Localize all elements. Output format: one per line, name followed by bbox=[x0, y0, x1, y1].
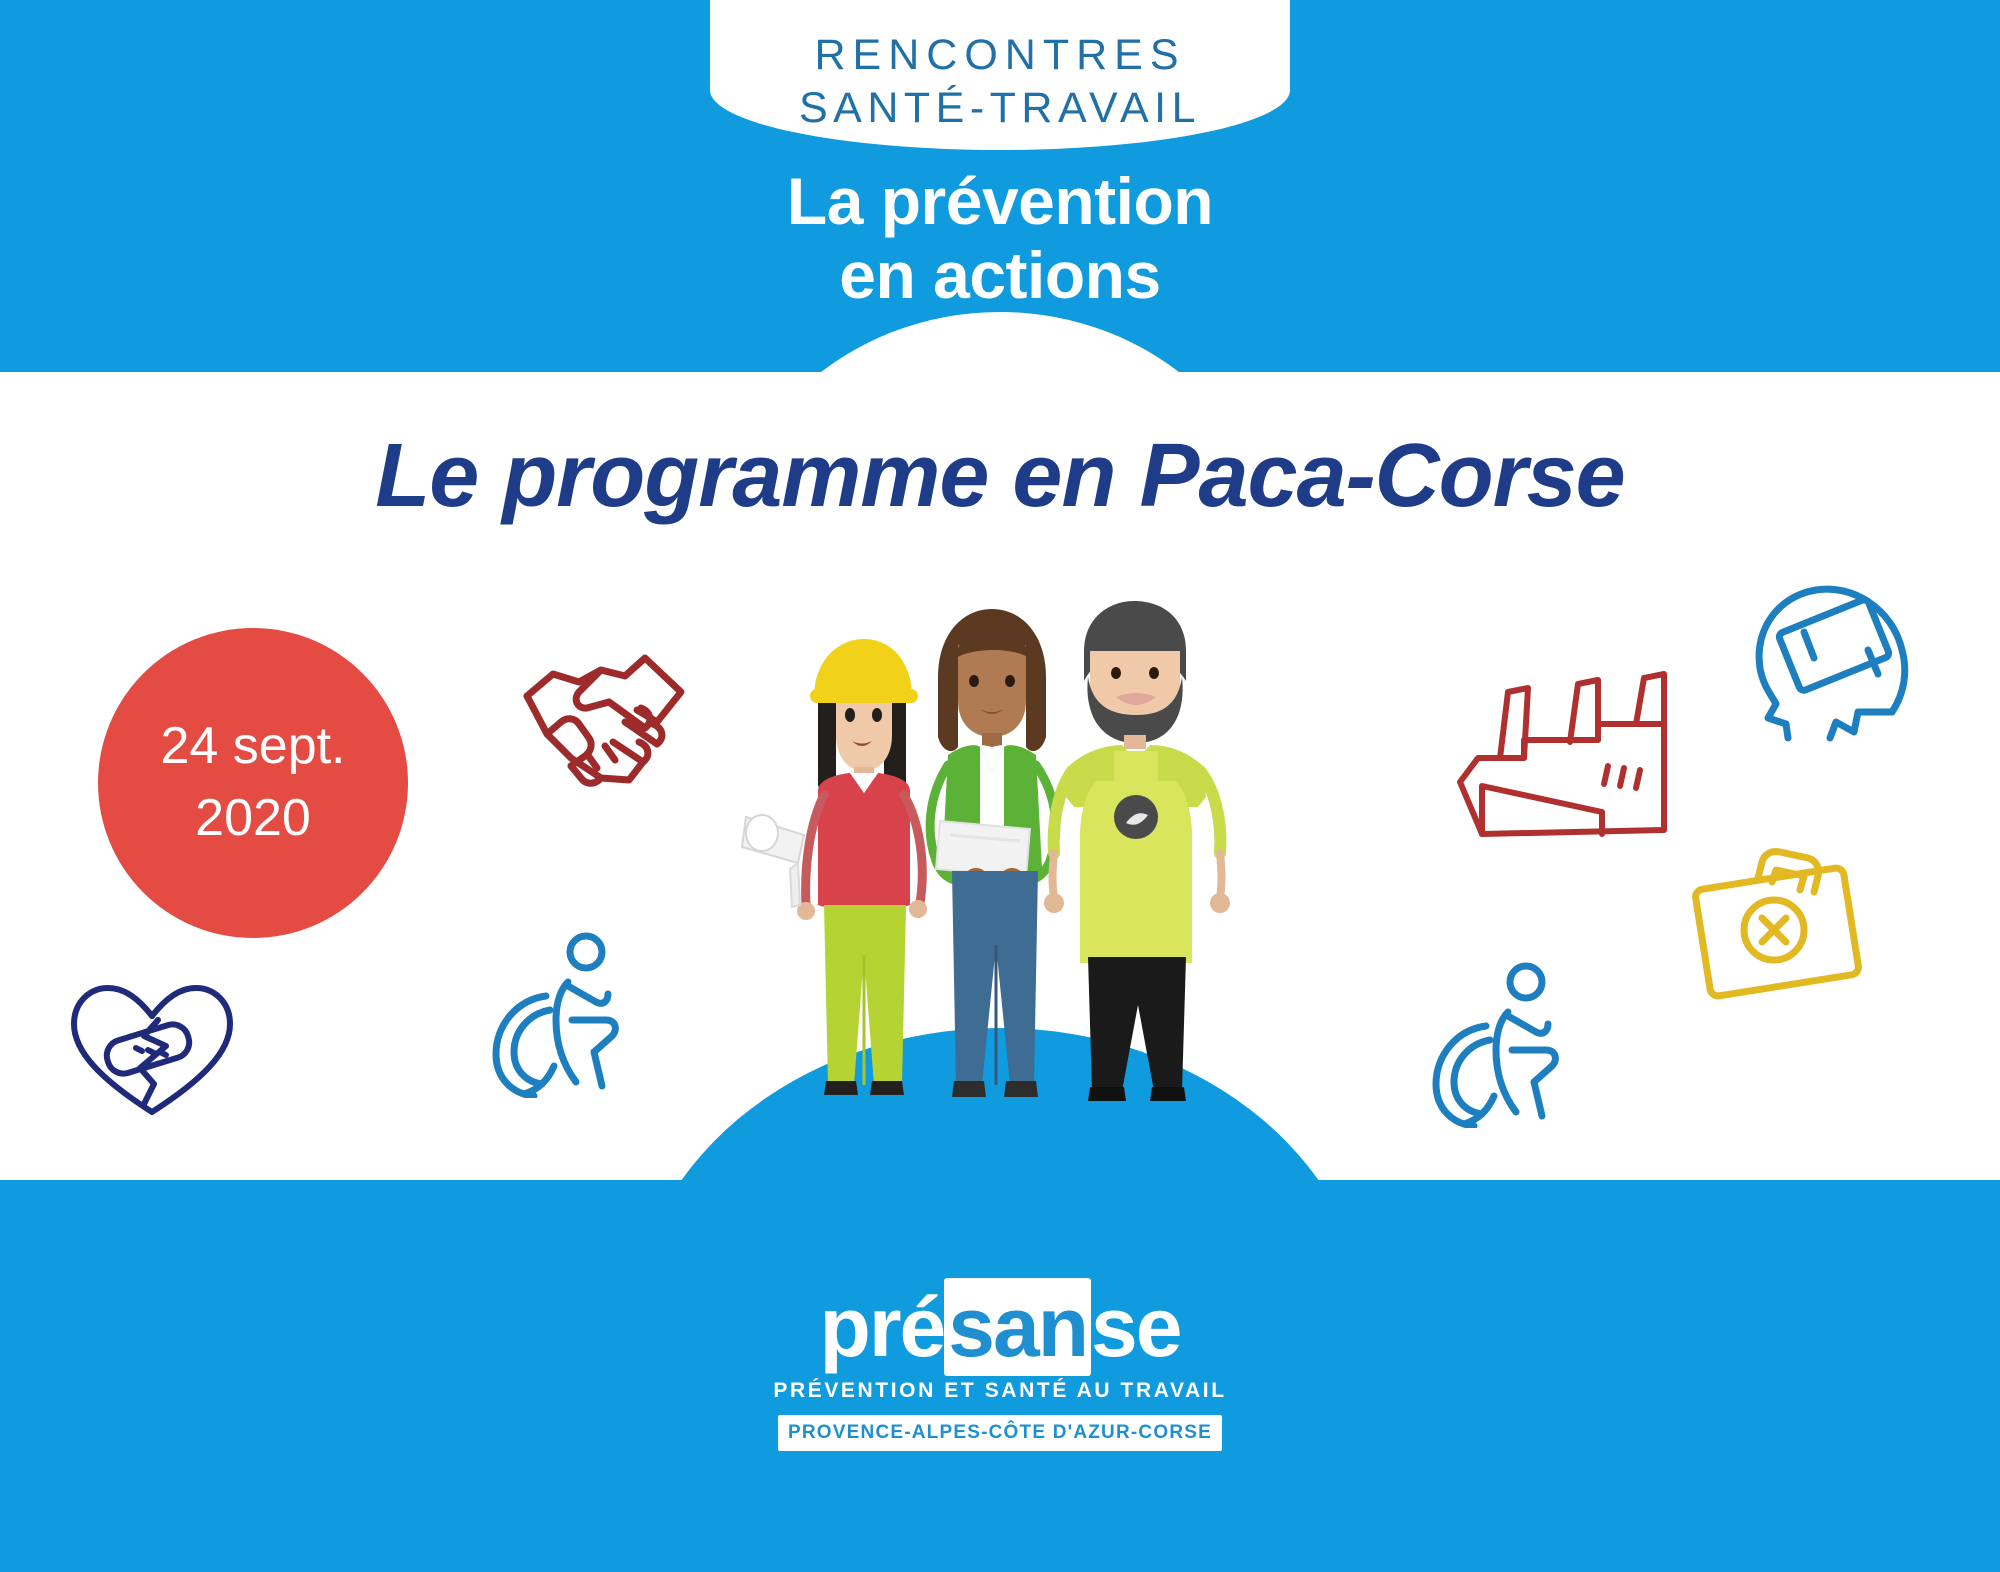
wheelchair-accessibility-icon-right bbox=[1408, 958, 1588, 1128]
figure-green-vest-woman bbox=[930, 609, 1056, 1097]
logo-part-san: san bbox=[944, 1278, 1091, 1376]
headline-line-1: La prévention bbox=[0, 165, 2000, 239]
banner-headline: La prévention en actions bbox=[0, 165, 2000, 313]
presanse-logo: présanse PRÉVENTION ET SANTÉ AU TRAVAIL … bbox=[770, 1285, 1230, 1451]
logo-region-label: PROVENCE-ALPES-CÔTE D'AZUR-CORSE bbox=[778, 1415, 1222, 1451]
date-day-month: 24 sept. bbox=[160, 711, 345, 783]
top-banner: RENCONTRES SANTÉ-TRAVAIL La prévention e… bbox=[0, 0, 2000, 372]
handshake-icon bbox=[505, 630, 705, 810]
event-badge: RENCONTRES SANTÉ-TRAVAIL bbox=[710, 0, 1290, 150]
figure-hardhat-woman bbox=[742, 639, 927, 1095]
date-badge: 24 sept. 2020 bbox=[98, 628, 408, 938]
logo-tagline: PRÉVENTION ET SANTÉ AU TRAVAIL bbox=[770, 1379, 1230, 1403]
three-workers-illustration bbox=[740, 585, 1240, 1130]
badge-line-rencontres: RENCONTRES bbox=[814, 29, 1185, 81]
logo-part-se: se bbox=[1091, 1280, 1180, 1374]
factory-icon bbox=[1452, 662, 1672, 842]
badge-line-sante-travail: SANTÉ-TRAVAIL bbox=[799, 82, 1201, 134]
head-protection-icon bbox=[1742, 572, 1922, 742]
logo-wordmark: présanse bbox=[820, 1285, 1181, 1369]
poster-root: RENCONTRES SANTÉ-TRAVAIL La prévention e… bbox=[0, 0, 2000, 1572]
page-title: Le programme en Paca-Corse bbox=[0, 425, 2000, 528]
heart-bandage-icon bbox=[62, 980, 242, 1120]
headline-line-2: en actions bbox=[0, 239, 2000, 313]
date-year: 2020 bbox=[195, 783, 311, 855]
banner-bottom-arc bbox=[720, 312, 1280, 372]
wheelchair-accessibility-icon-left bbox=[468, 928, 648, 1098]
logo-part-pre: pré bbox=[820, 1280, 945, 1374]
figure-apron-man bbox=[1044, 601, 1230, 1101]
first-aid-kit-icon bbox=[1684, 842, 1874, 1002]
